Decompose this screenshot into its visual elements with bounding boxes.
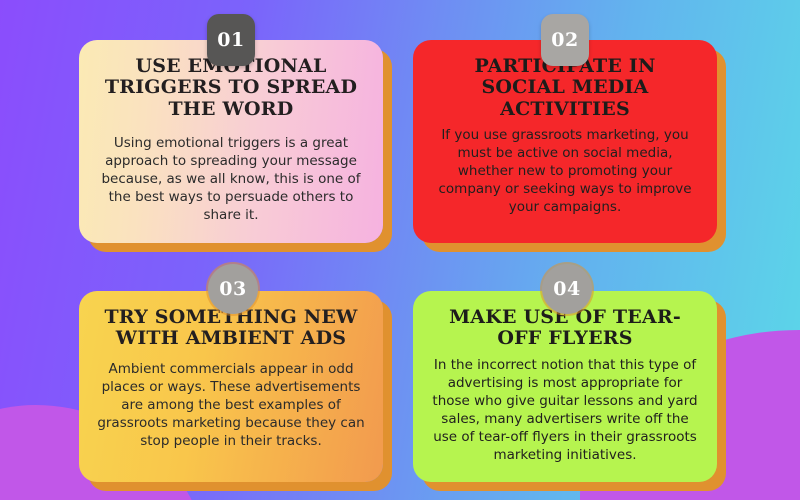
tip-card-02-number-badge: 02	[541, 14, 589, 66]
tip-card-01-body: Using emotional triggers is a great appr…	[96, 135, 366, 225]
tip-card-04: MAKE USE OF TEAR-OFF FLYERS In the incor…	[413, 291, 717, 482]
tip-card-04-body: In the incorrect notion that this type o…	[430, 357, 700, 465]
tip-card-03: TRY SOMETHING NEW WITH AMBIENT ADS Ambie…	[79, 291, 383, 482]
tip-card-02: PARTICIPATE IN SOCIAL MEDIA ACTIVITIES I…	[413, 40, 717, 243]
tip-card-02-body: If you use grassroots marketing, you mus…	[430, 127, 700, 217]
tip-card-01-number-badge: 01	[207, 14, 255, 66]
tip-card-04-number-badge: 04	[542, 264, 592, 314]
tip-card-03-number-badge: 03	[208, 264, 258, 314]
tip-card-03-body: Ambient commercials appear in odd places…	[96, 361, 366, 451]
infographic-canvas: USE EMOTIONAL TRIGGERS TO SPREAD THE WOR…	[0, 0, 800, 500]
tip-card-01: USE EMOTIONAL TRIGGERS TO SPREAD THE WOR…	[79, 40, 383, 243]
